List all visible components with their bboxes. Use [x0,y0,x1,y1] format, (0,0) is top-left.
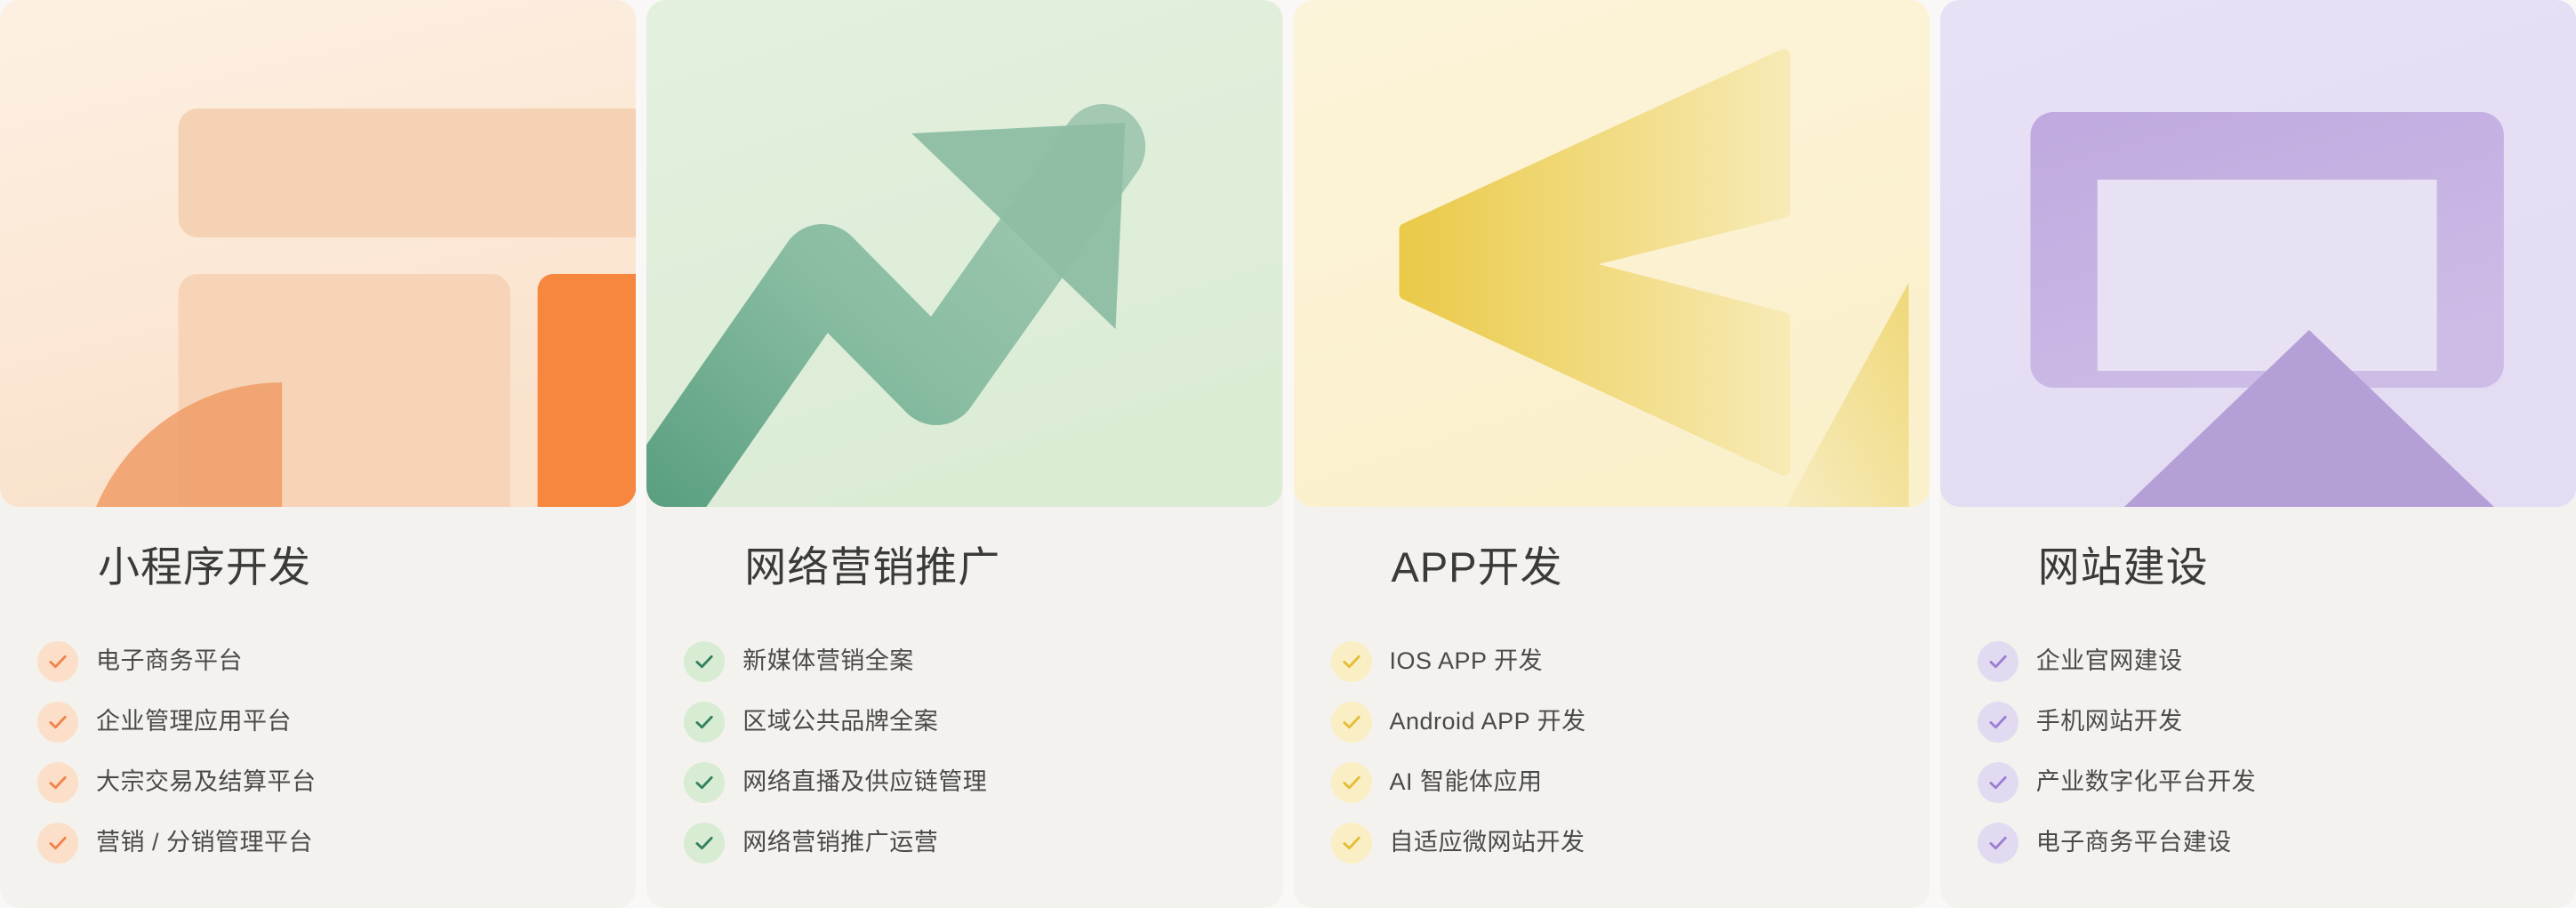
check-icon [37,702,78,743]
list-item[interactable]: 电子商务平台建设 [1978,813,2576,873]
feature-label: IOS APP 开发 [1390,649,1544,673]
service-card-network-marketing[interactable]: 网络营销推广 新媒体营销全案 区域公共品牌全案 [646,0,1282,908]
feature-label: Android APP 开发 [1390,710,1586,734]
feature-list: 电子商务平台 企业管理应用平台 大宗交易及结算平台 [0,631,636,873]
feature-label: 网络直播及供应链管理 [742,770,987,794]
check-icon [37,641,78,682]
list-item[interactable]: 电子商务平台 [37,631,636,692]
check-icon [1978,702,2018,743]
feature-label: 大宗交易及结算平台 [96,770,317,794]
list-item[interactable]: 自适应微网站开发 [1331,813,1930,873]
check-icon [1978,641,2018,682]
check-icon [37,762,78,803]
website-construction-card-body: 网站建设 企业官网建设 手机网站开发 [1940,507,2576,908]
check-icon [1331,762,1372,803]
network-marketing-illustration [646,0,1282,507]
feature-label: 网络营销推广运营 [742,831,938,855]
mini-program-card-body: 小程序开发 电子商务平台 企业管理应用平台 [0,507,636,908]
list-item[interactable]: IOS APP 开发 [1331,631,1930,692]
check-icon [1978,823,2018,864]
check-icon [1331,641,1372,682]
list-item[interactable]: Android APP 开发 [1331,692,1930,752]
service-cards-row: 小程序开发 电子商务平台 企业管理应用平台 [0,0,2576,908]
list-item[interactable]: 区域公共品牌全案 [684,692,1282,752]
feature-list: 企业官网建设 手机网站开发 产业数字化平台开发 [1940,631,2576,873]
check-icon [684,762,725,803]
card-title: 网站建设 [1940,544,2576,591]
list-item[interactable]: 企业管理应用平台 [37,692,636,752]
app-development-card-body: APP开发 IOS APP 开发 Android APP 开发 [1294,507,1930,908]
feature-label: 区域公共品牌全案 [742,710,938,734]
list-item[interactable]: 新媒体营销全案 [684,631,1282,692]
check-icon [684,641,725,682]
list-item[interactable]: 产业数字化平台开发 [1978,752,2576,813]
list-item[interactable]: AI 智能体应用 [1331,752,1930,813]
feature-label: 产业数字化平台开发 [2036,770,2257,794]
list-item[interactable]: 营销 / 分销管理平台 [37,813,636,873]
feature-label: 自适应微网站开发 [1390,831,1585,855]
card-title: APP开发 [1294,544,1930,591]
card-title: 网络营销推广 [646,544,1282,591]
list-item[interactable]: 大宗交易及结算平台 [37,752,636,813]
check-icon [684,702,725,743]
service-card-app-development[interactable]: APP开发 IOS APP 开发 Android APP 开发 [1294,0,1930,908]
card-title: 小程序开发 [0,544,636,591]
check-icon [1331,702,1372,743]
network-marketing-card-body: 网络营销推广 新媒体营销全案 区域公共品牌全案 [646,507,1282,908]
list-item[interactable]: 企业官网建设 [1978,631,2576,692]
feature-label: AI 智能体应用 [1390,770,1543,794]
feature-label: 电子商务平台建设 [2036,831,2232,855]
feature-list: 新媒体营销全案 区域公共品牌全案 网络直播及供应链管理 [646,631,1282,873]
service-card-mini-program[interactable]: 小程序开发 电子商务平台 企业管理应用平台 [0,0,636,908]
feature-label: 企业管理应用平台 [96,710,292,734]
feature-label: 电子商务平台 [96,649,243,673]
check-icon [37,823,78,864]
feature-label: 营销 / 分销管理平台 [96,831,313,855]
list-item[interactable]: 手机网站开发 [1978,692,2576,752]
mini-program-illustration [0,0,636,507]
check-icon [1331,823,1372,864]
feature-label: 新媒体营销全案 [742,649,914,673]
app-development-illustration [1294,0,1930,507]
feature-list: IOS APP 开发 Android APP 开发 AI 智能体应用 [1294,631,1930,873]
check-icon [1978,762,2018,803]
feature-label: 企业官网建设 [2036,649,2183,673]
website-construction-illustration [1940,0,2576,507]
list-item[interactable]: 网络直播及供应链管理 [684,752,1282,813]
service-card-website-construction[interactable]: 网站建设 企业官网建设 手机网站开发 [1940,0,2576,908]
list-item[interactable]: 网络营销推广运营 [684,813,1282,873]
feature-label: 手机网站开发 [2036,710,2183,734]
check-icon [684,823,725,864]
